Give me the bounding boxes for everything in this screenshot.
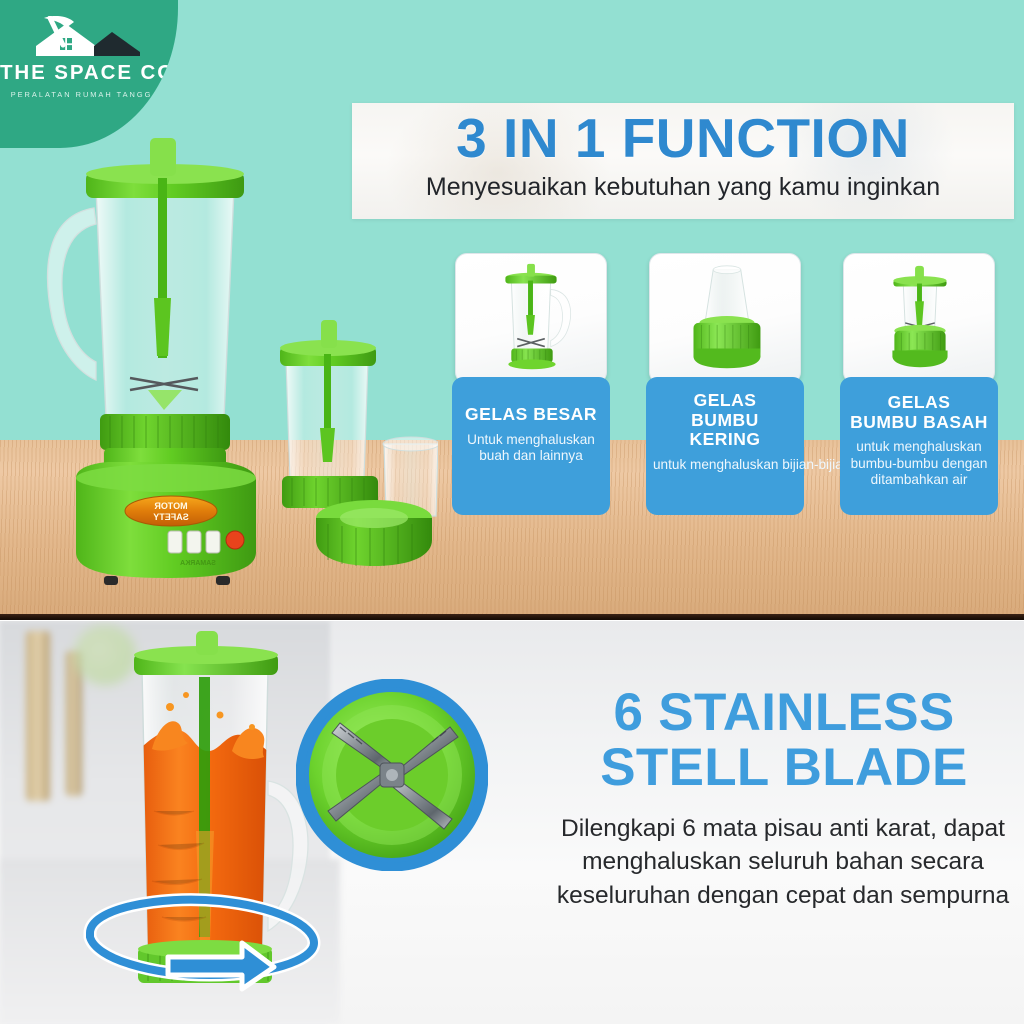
rotation-arrow-icon <box>60 889 360 999</box>
large-jar-photo <box>455 253 607 384</box>
headline-banner: 3 IN 1 FUNCTION Menyesuaikan kebutuhan y… <box>352 103 1014 219</box>
svg-text:MOTOR: MOTOR <box>154 501 188 511</box>
stainless-blade-closeup <box>296 679 488 871</box>
card-description: untuk menghaluskan bijian-bijian, kacang… <box>653 457 797 473</box>
card-title: GELAS BESAR <box>459 405 603 425</box>
svg-text:SAMARKA: SAMARKA <box>180 560 216 567</box>
table-edge-divider <box>0 614 1024 620</box>
dry-spice-jar-photo <box>649 253 801 384</box>
top-section: MOTOR SAFETY SAMARKA <box>0 0 1024 620</box>
product-infographic: MOTOR SAFETY SAMARKA <box>0 0 1024 1024</box>
background-faucet <box>26 631 50 801</box>
feature-card-gelas-besar[interactable]: GELAS BESAR Untuk menghaluskan buah dan … <box>452 253 610 515</box>
feature-card-gelas-bumbu-basah[interactable]: GELAS BUMBU BASAH untuk menghaluskan bum… <box>840 253 998 515</box>
svg-text:SAFETY: SAFETY <box>153 512 189 522</box>
card-description: Untuk menghaluskan buah dan lainnya <box>459 432 603 465</box>
feature-card-body: GELAS BUMBU BASAH untuk menghaluskan bum… <box>840 377 998 515</box>
card-title: GELAS BUMBU BASAH <box>847 393 991 432</box>
feature-card-body: GELAS BUMBU KERING untuk menghaluskan bi… <box>646 377 804 515</box>
feature-card-gelas-bumbu-kering[interactable]: GELAS BUMBU KERING untuk menghaluskan bi… <box>646 253 804 515</box>
page-title: 3 IN 1 FUNCTION <box>456 109 910 168</box>
bottom-title: 6 STAINLESS STELL BLADE <box>560 686 1008 795</box>
bottom-description: Dilengkapi 6 mata pisau anti karat, dapa… <box>542 812 1024 912</box>
card-description: untuk menghaluskan bumbu-bumbu dengan di… <box>847 439 991 488</box>
feature-card-list: GELAS BESAR Untuk menghaluskan buah dan … <box>452 253 1018 515</box>
brand-tagline: PERALATAN RUMAH TANGGA <box>0 90 170 99</box>
card-title: GELAS BUMBU KERING <box>653 391 797 450</box>
brand-logo-badge: THE SPACE CO PERALATAN RUMAH TANGGA <box>0 0 178 148</box>
wet-spice-jar-photo <box>843 253 995 384</box>
feature-card-body: GELAS BESAR Untuk menghaluskan buah dan … <box>452 377 610 515</box>
house-hammer-icon <box>0 16 170 60</box>
page-subtitle: Menyesuaikan kebutuhan yang kamu inginka… <box>426 173 940 202</box>
brand-name: THE SPACE CO <box>0 61 170 85</box>
